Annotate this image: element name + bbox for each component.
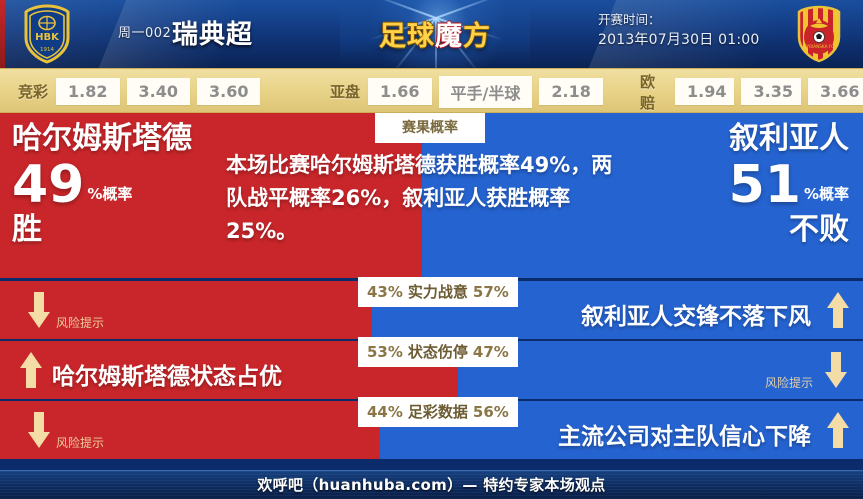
comparison-category-badge: 53%状态伤停47% xyxy=(358,337,518,367)
arrow-up-icon xyxy=(20,350,42,390)
category-label: 实力战意 xyxy=(408,283,468,301)
odds-cell-handicap[interactable]: 平手/半球 xyxy=(439,76,533,108)
odds-cell-draw[interactable]: 3.40 xyxy=(127,78,190,105)
category-label: 足彩数据 xyxy=(408,403,468,421)
left-insight-text: 哈尔姆斯塔德状态占优 xyxy=(52,357,282,391)
league-name: 瑞典超 xyxy=(172,14,253,51)
comparison-category-badge: 43%实力战意57% xyxy=(358,277,518,307)
brand-title-b: 魔 xyxy=(435,21,463,52)
odds-group-oupei: 欧赔 1.94 3.35 3.66 xyxy=(640,69,863,114)
comparison-left-bar: 风险提示 xyxy=(0,281,372,339)
odds-cell-home[interactable]: 1.66 xyxy=(368,78,431,105)
arrow-down-icon xyxy=(28,410,50,450)
away-probability-unit: %概率 xyxy=(804,183,849,204)
arrow-down-icon xyxy=(825,350,847,390)
left-risk-note: 风险提示 xyxy=(56,314,104,331)
kickoff-time: 2013年07月30日 01:00 xyxy=(598,30,778,50)
svg-text:HBK: HBK xyxy=(35,32,60,43)
odds-group-jingcai: 竞彩 1.82 3.40 3.60 xyxy=(18,69,267,114)
kickoff-info: 开赛时间： 2013年07月30日 01:00 xyxy=(598,10,778,50)
home-outcome-word: 胜 xyxy=(12,213,242,247)
header-bar: HBK 1914 周一002 瑞典超 足球魔方 开赛时间： 2013年07月30… xyxy=(0,0,863,68)
probability-panel: 赛果概率 哈尔姆斯塔德 49 %概率 胜 本场比赛哈尔姆斯塔德获胜概率49%，两… xyxy=(0,113,863,278)
left-percent: 43% xyxy=(367,283,403,301)
away-team-name: 叙利亚人 xyxy=(599,121,849,157)
odds-group-label: 亚盘 xyxy=(330,81,360,102)
away-probability-value: 51 xyxy=(729,159,801,211)
left-percent: 44% xyxy=(367,403,403,421)
comparison-row: 风险提示 叙利亚人交锋不落下风 43%实力战意57% xyxy=(0,281,863,339)
arrow-down-icon xyxy=(28,290,50,330)
comparison-row: 风险提示 主流公司对主队信心下降 44%足彩数据56% xyxy=(0,401,863,459)
odds-bar: 竞彩 1.82 3.40 3.60 亚盘 1.66 平手/半球 2.18 欧赔 … xyxy=(0,68,863,113)
probability-summary-text: 本场比赛哈尔姆斯塔德获胜概率49%，两队战平概率26%，叙利亚人获胜概率25%。 xyxy=(226,149,621,248)
comparison-right-bar: 风险提示 xyxy=(458,341,863,399)
right-percent: 47% xyxy=(473,343,509,361)
odds-group-label: 竞彩 xyxy=(18,81,48,102)
brand-title-c: 方 xyxy=(463,21,491,52)
right-percent: 56% xyxy=(473,403,509,421)
comparison-row: 哈尔姆斯塔德状态占优 风险提示 53%状态伤停47% xyxy=(0,341,863,399)
odds-group-yapan: 亚盘 1.66 平手/半球 2.18 xyxy=(330,69,610,114)
right-insight-text: 主流公司对主队信心下降 xyxy=(558,417,811,451)
odds-group-label: 欧赔 xyxy=(640,71,667,113)
kickoff-label: 开赛时间： xyxy=(598,10,778,30)
right-risk-note: 风险提示 xyxy=(765,374,813,391)
away-outcome-word: 不败 xyxy=(599,213,849,247)
brand-title: 足球魔方 xyxy=(340,14,530,53)
footer-credit: 欢呼吧（huanhuba.com）— 特约专家本场观点 xyxy=(0,471,863,499)
left-percent: 53% xyxy=(367,343,403,361)
odds-cell-home[interactable]: 1.94 xyxy=(675,78,735,105)
odds-cell-away[interactable]: 3.60 xyxy=(197,78,260,105)
brand-logo: 足球魔方 xyxy=(340,0,530,68)
odds-cell-away[interactable]: 3.66 xyxy=(808,78,863,105)
right-insight-text: 叙利亚人交锋不落下风 xyxy=(581,297,811,331)
infographic-root: HBK 1914 周一002 瑞典超 足球魔方 开赛时间： 2013年07月30… xyxy=(0,0,863,499)
home-probability-block: 哈尔姆斯塔德 49 %概率 胜 xyxy=(12,121,242,247)
home-probability-unit: %概率 xyxy=(87,183,132,204)
svg-text:1914: 1914 xyxy=(40,47,54,53)
odds-cell-draw[interactable]: 3.35 xyxy=(741,78,801,105)
comparison-left-bar: 风险提示 xyxy=(0,401,380,459)
match-number: 周一002 xyxy=(118,22,171,41)
comparison-category-badge: 44%足彩数据56% xyxy=(358,397,518,427)
arrow-up-icon xyxy=(827,290,849,330)
home-team-crest-icon: HBK 1914 xyxy=(18,4,76,64)
odds-cell-home[interactable]: 1.82 xyxy=(56,78,119,105)
brand-title-a: 足球 xyxy=(379,21,435,52)
arrow-up-icon xyxy=(827,410,849,450)
footer-bar: 欢呼吧（huanhuba.com）— 特约专家本场观点 xyxy=(0,470,863,499)
probability-tab-label: 赛果概率 xyxy=(375,113,485,143)
svg-text:SYRIANSKA FC: SYRIANSKA FC xyxy=(804,44,834,49)
right-percent: 57% xyxy=(473,283,509,301)
left-risk-note: 风险提示 xyxy=(56,434,104,451)
away-team-crest-icon: SYRIANSKA FC xyxy=(790,4,848,64)
category-label: 状态伤停 xyxy=(408,343,468,361)
home-probability-value: 49 xyxy=(12,159,84,211)
odds-cell-away[interactable]: 2.18 xyxy=(539,78,602,105)
away-probability-block: 叙利亚人 51 %概率 不败 xyxy=(599,121,849,247)
home-team-name: 哈尔姆斯塔德 xyxy=(12,121,242,157)
